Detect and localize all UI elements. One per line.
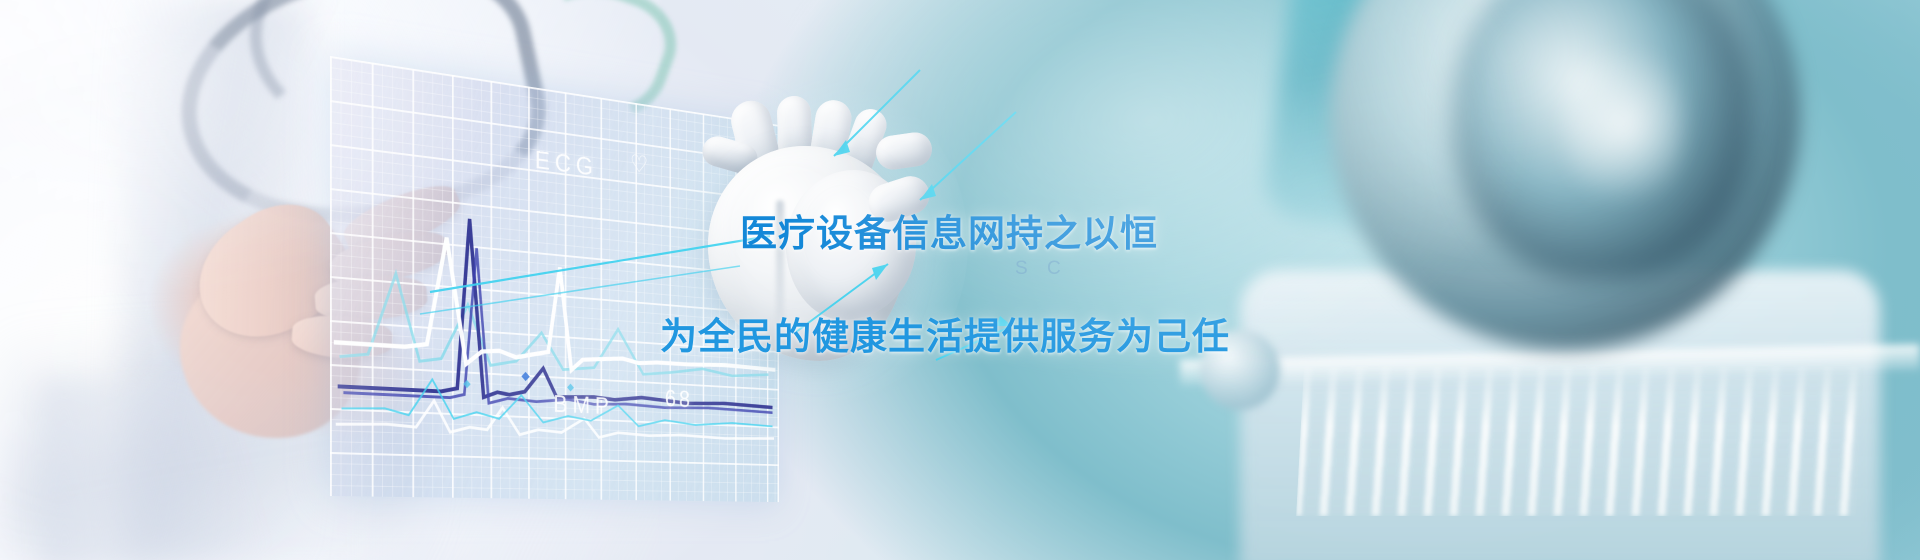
scan-arrow-overlay [620, 60, 1040, 420]
sc-watermark: S C [1015, 258, 1068, 280]
scan-line-2 [920, 112, 1016, 200]
microscope-highlight [1564, 30, 1684, 220]
scan-arrow-3 [872, 264, 888, 280]
microscope-focus-knob [1200, 330, 1280, 410]
scan-arrow-4 [996, 316, 1012, 326]
ruler-ticks [1296, 366, 1864, 516]
medical-hero-banner: ECG ♡ BMP 68 S C [0, 0, 1920, 560]
scan-line-4 [936, 326, 1012, 360]
